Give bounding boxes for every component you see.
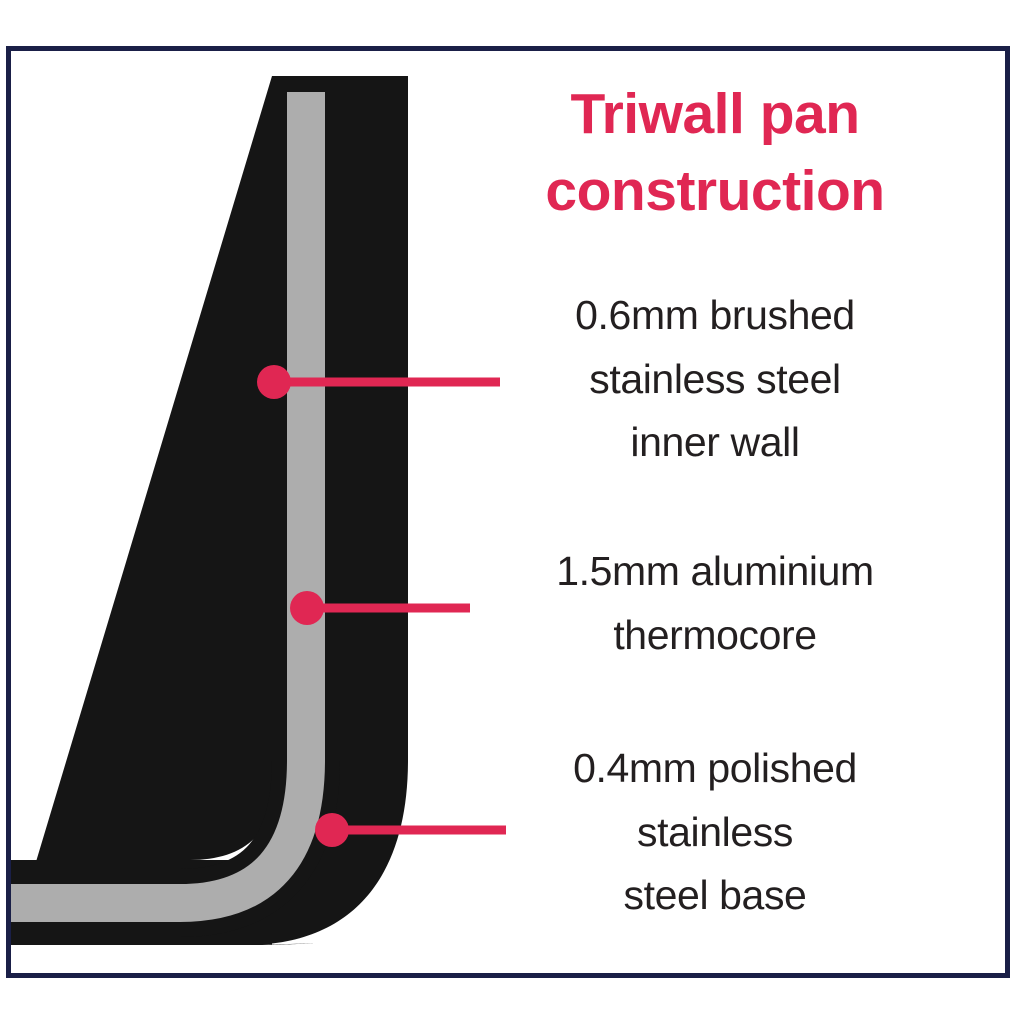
callout-dot-thermocore[interactable] [290,591,324,625]
callout-steel-base-line-3: steel base [624,872,807,918]
callout-dot-inner-wall[interactable] [257,365,291,399]
frame-left-border-restore [6,46,11,978]
callout-inner-wall-line-1: 0.6mm brushed [575,292,855,338]
callout-thermocore-line-1: 1.5mm aluminium [556,548,874,594]
text-panel: Triwall pan construction [470,76,960,230]
callout-label-steel-base: 0.4mm polished stainless steel base [500,737,930,928]
callout-steel-base-line-2: stainless [637,809,793,855]
callout-steel-base-line-1: 0.4mm polished [573,745,857,791]
callout-inner-wall-line-2: stainless steel [589,356,841,402]
page-title-line-2: construction [545,159,884,223]
callout-inner-wall-line-3: inner wall [630,419,799,465]
callout-label-inner-wall: 0.6mm brushed stainless steel inner wall [500,284,930,475]
page-title-line-1: Triwall pan [570,82,859,146]
pan-wall-top-cap [272,76,340,92]
steel-outline-body [11,76,408,945]
callout-thermocore-line-2: thermocore [613,612,816,658]
callout-dot-steel-base[interactable] [315,813,349,847]
infographic-page: Triwall pan construction 0.6mm brushed s… [0,0,1024,1024]
callout-label-thermocore: 1.5mm aluminium thermocore [500,540,930,667]
page-title: Triwall pan construction [470,76,960,230]
